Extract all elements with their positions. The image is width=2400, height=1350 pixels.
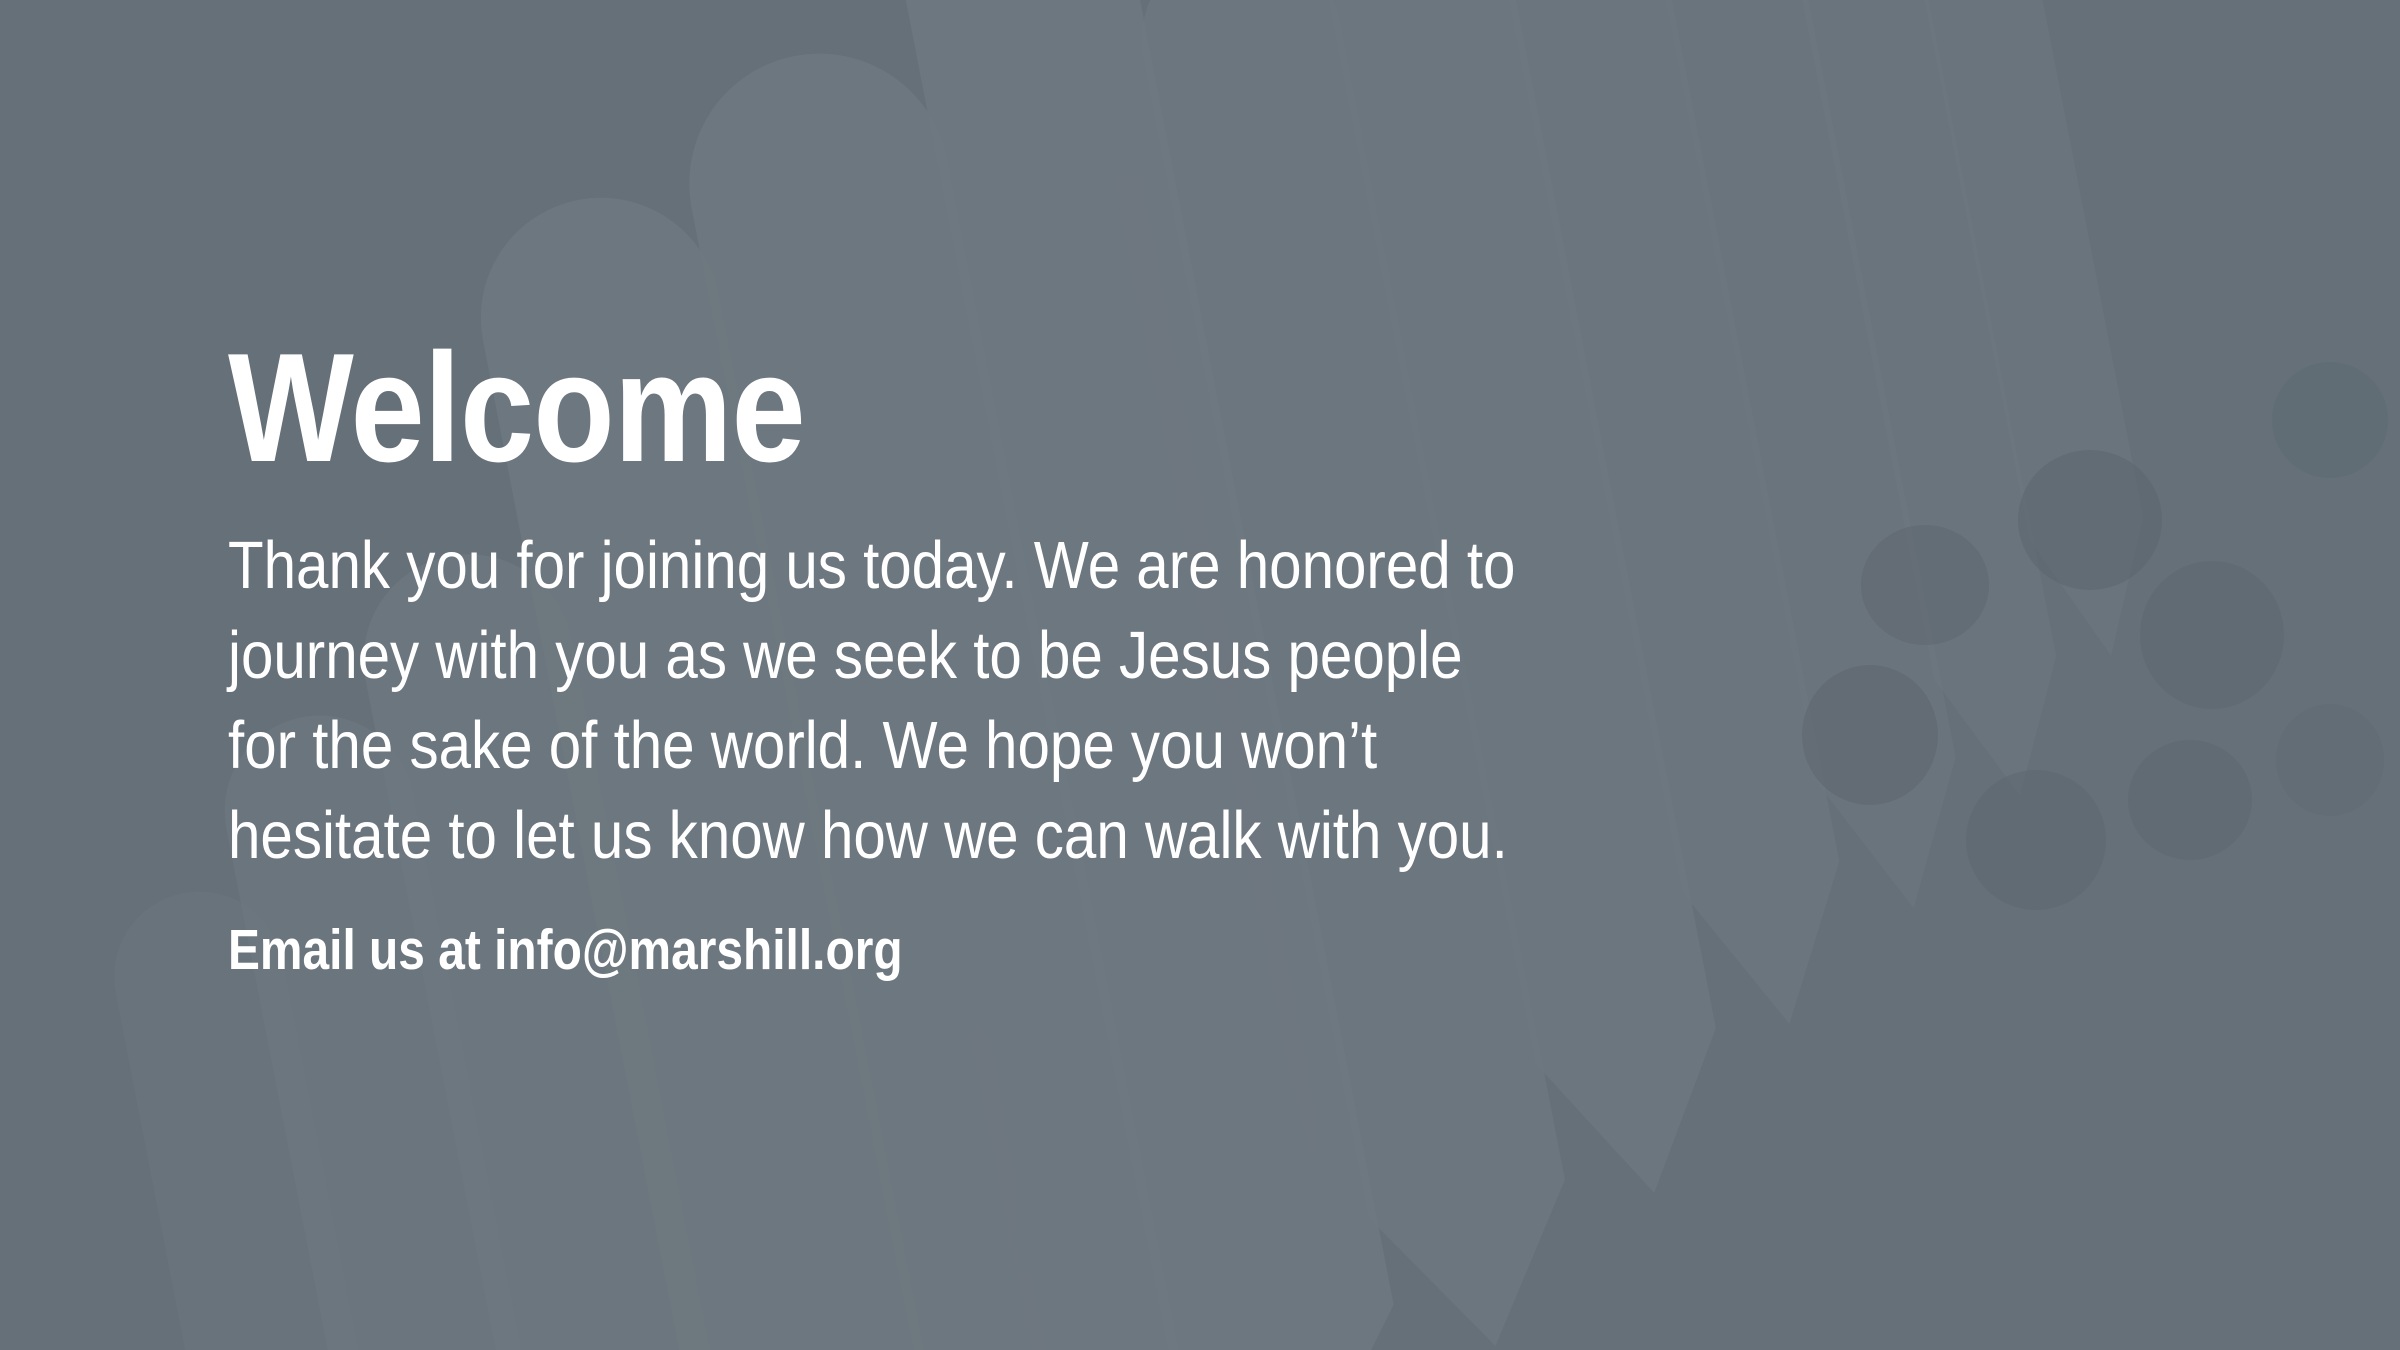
contact-email-line[interactable]: Email us at info@marshill.org: [228, 919, 1589, 982]
paragraph-line: for the sake of the world. We hope you w…: [228, 701, 1785, 791]
page-title: Welcome: [228, 330, 1621, 485]
slide-content: Welcome Thank you for joining us today. …: [228, 330, 1848, 982]
paragraph-line: journey with you as we seek to be Jesus …: [228, 611, 1785, 701]
circle-cluster: [1802, 362, 2388, 910]
welcome-slide: Welcome Thank you for joining us today. …: [0, 0, 2400, 1350]
paragraph-line: hesitate to let us know how we can walk …: [228, 791, 1785, 881]
welcome-paragraph: Thank you for joining us today. We are h…: [228, 521, 1785, 881]
paragraph-line: Thank you for joining us today. We are h…: [228, 521, 1785, 611]
